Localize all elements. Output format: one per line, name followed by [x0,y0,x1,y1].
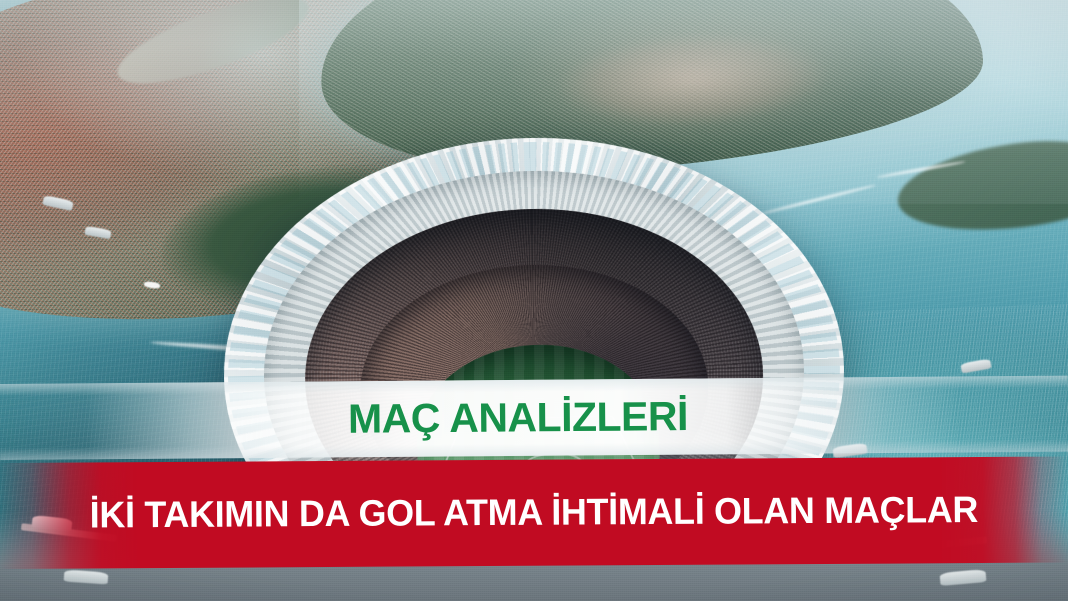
headline-band: İKİ TAKIMIN DA GOL ATMA İHTİMALİ OLAN MA… [0,456,1068,569]
headline-title: İKİ TAKIMIN DA GOL ATMA İHTİMALİ OLAN MA… [90,489,979,536]
kicker-band: MAÇ ANALİZLERİ [0,376,1068,460]
banner-hero: MAÇ ANALİZLERİ İKİ TAKIMIN DA GOL ATMA İ… [0,0,1068,601]
kicker-title: MAÇ ANALİZLERİ [348,393,688,443]
